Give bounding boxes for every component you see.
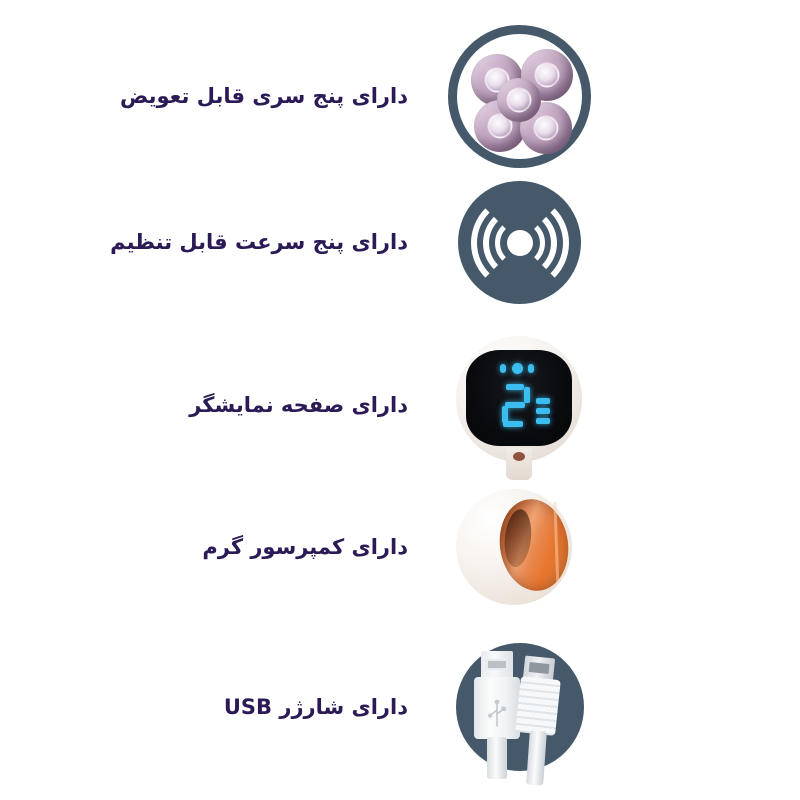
level-bar <box>536 418 550 424</box>
feature-label-warm-compressor: دارای کمپرسور گرم <box>0 532 430 562</box>
feature-label-usb-charger: دارای شارژر USB <box>0 692 430 722</box>
warm-compressor-photo <box>452 487 590 607</box>
feature-row: دارای شارژر USB <box>0 643 800 771</box>
digit-segment <box>524 387 530 403</box>
usb-trident-icon <box>486 699 508 729</box>
usb-a-metal-tip <box>481 651 513 679</box>
vibration-speed-icon <box>458 181 581 304</box>
indicator-dot-right <box>528 364 534 373</box>
micro-usb-cable <box>526 730 547 785</box>
feature-visual-display-screen <box>430 330 586 480</box>
feature-visual-adjustable-speeds <box>430 181 581 304</box>
indicator-dot-left <box>500 364 506 373</box>
device-stem <box>506 448 532 480</box>
feature-visual-replaceable-heads <box>430 25 591 168</box>
usb-a-connector <box>474 651 520 747</box>
feature-row: دارای پنج سرعت قابل تنظیم <box>0 181 800 304</box>
massage-head <box>497 78 541 122</box>
feature-label-replaceable-heads: دارای پنج سری قابل تعویض <box>0 81 430 111</box>
feature-label-display-screen: دارای صفحه نمایشگر <box>0 390 430 420</box>
level-bar <box>536 398 550 404</box>
feature-visual-warm-compressor <box>430 487 590 607</box>
digit-segment <box>506 384 524 390</box>
feature-visual-usb-charger <box>430 643 584 771</box>
usb-charger-icon <box>456 643 584 771</box>
led-display-photo <box>454 330 586 480</box>
feature-list: دارای پنج سری قابل تعویض دارای پنج سرعت … <box>0 0 800 800</box>
feature-row: دارای پنج سری قابل تعویض <box>0 25 800 168</box>
usb-a-cable <box>487 737 507 779</box>
usb-a-housing <box>474 677 520 739</box>
digit-segment <box>505 402 525 408</box>
level-bar <box>536 408 550 414</box>
vibration-center-dot <box>507 230 533 256</box>
feature-label-adjustable-speeds: دارای پنج سرعت قابل تنظیم <box>0 227 430 257</box>
digit-segment <box>503 421 523 427</box>
indicator-dot-center <box>512 363 523 374</box>
feature-row: دارای کمپرسور گرم <box>0 487 800 607</box>
feature-row: دارای صفحه نمایشگر <box>0 330 800 480</box>
led-screen <box>466 350 572 446</box>
micro-usb-housing <box>515 676 561 736</box>
micro-usb-connector <box>518 657 558 749</box>
five-massage-heads-icon <box>448 25 591 168</box>
